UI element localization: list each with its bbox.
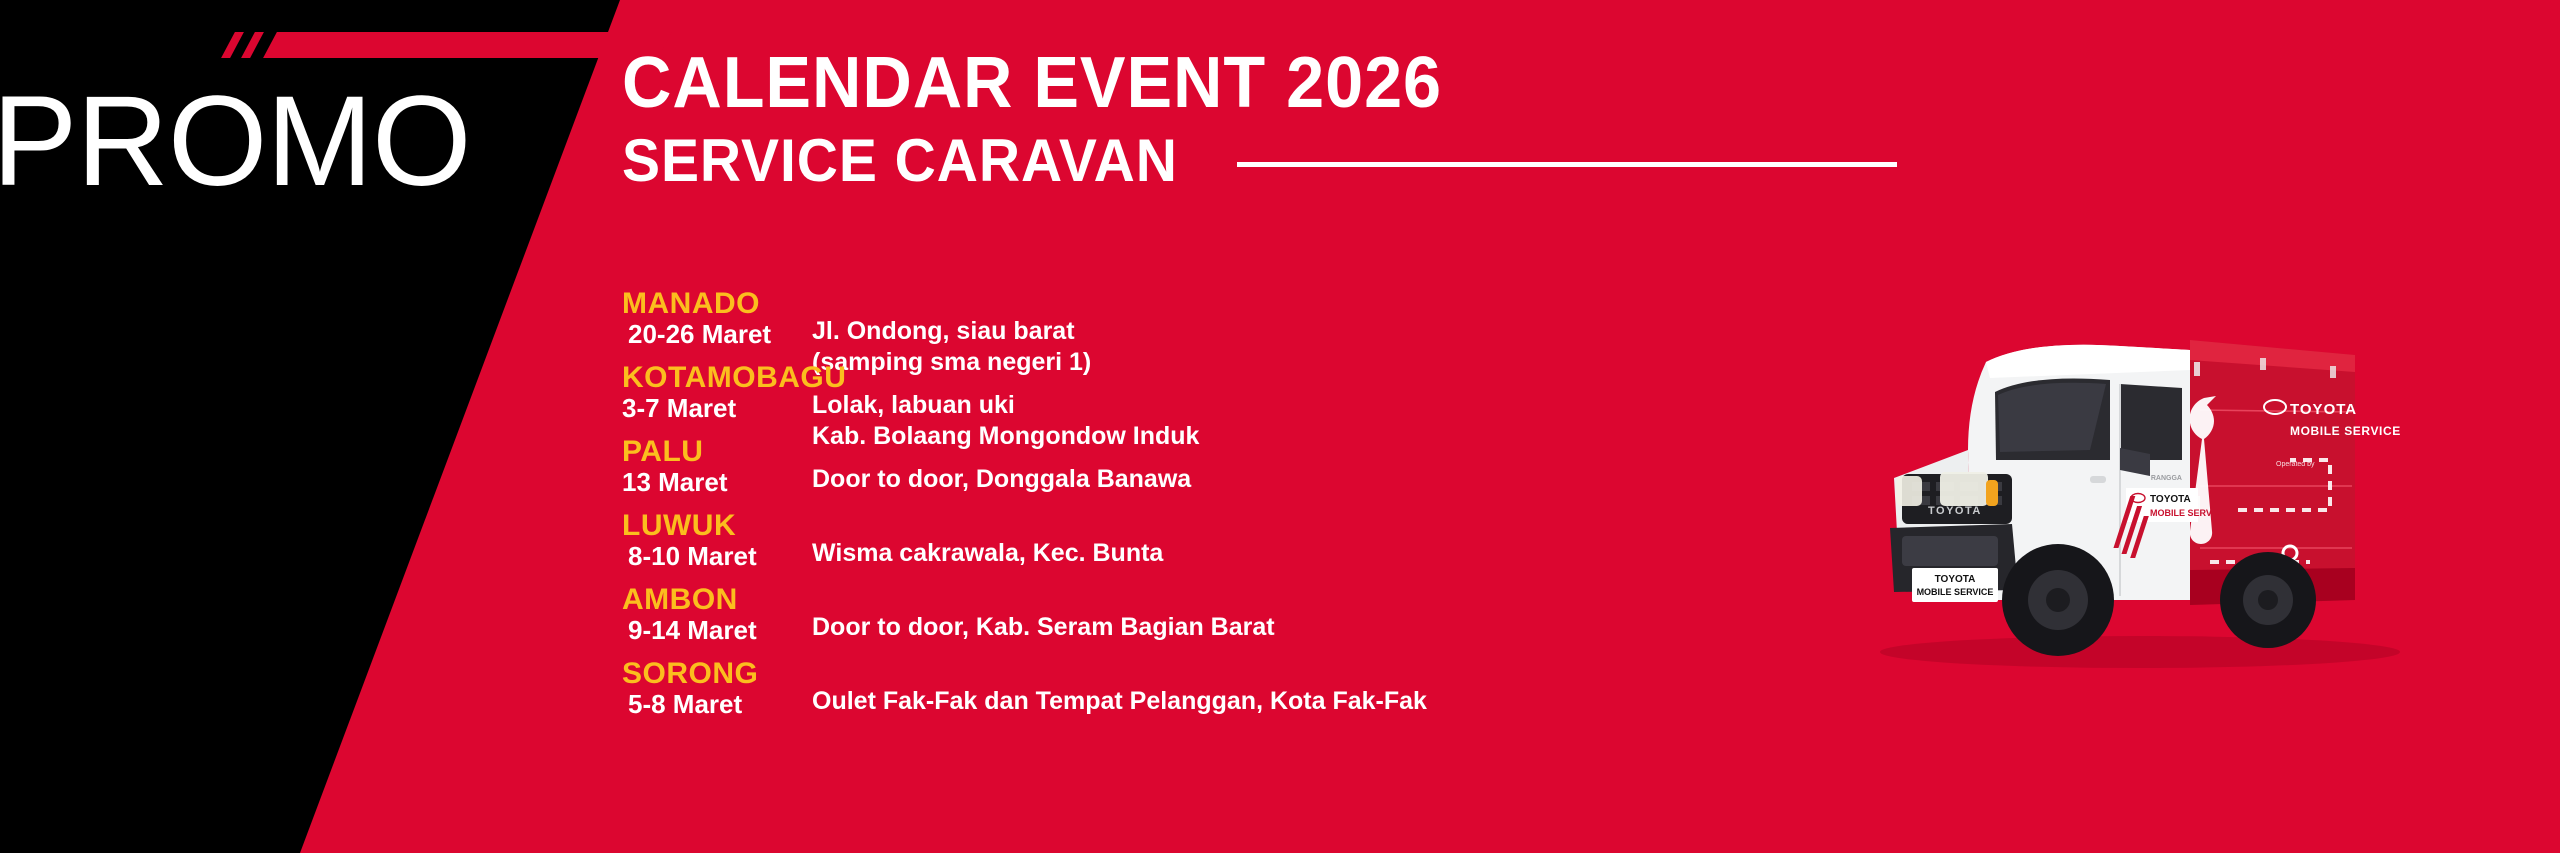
- event-venue-line1: Lolak, labuan uki: [812, 391, 1015, 419]
- decorative-stripes: [0, 32, 660, 72]
- operated-by-label: Operated by: [2276, 461, 2315, 468]
- svg-text:MOBILE SERVICE: MOBILE SERVICE: [2290, 424, 2401, 438]
- svg-text:TOYOTA: TOYOTA: [2150, 494, 2191, 505]
- truck-shadow: [1880, 636, 2400, 668]
- event-venue-line1: Jl. Ondong, siau barat: [812, 317, 1075, 345]
- grille-brand-text: TOYOTA: [1928, 505, 1982, 517]
- stripe-thin-1: [221, 32, 244, 58]
- truck-illustration: TOYOTA MOBILE SERVICE Operated by: [1790, 300, 2490, 700]
- plate-line-2: MOBILE SERVICE: [1917, 587, 1994, 597]
- event-venue-line1: Wisma cakrawala, Kec. Bunta: [812, 539, 1163, 567]
- stripe-thin-2: [241, 32, 264, 58]
- event-row: KOTAMOBAGU 3-7 Maret Lolak, labuan uki K…: [622, 362, 1922, 436]
- event-row: PALU 13 Maret Door to door, Donggala Ban…: [622, 436, 1922, 510]
- mobile-service-truck-image: TOYOTA MOBILE SERVICE Operated by: [1790, 300, 2490, 700]
- event-venue-line1: Door to door, Kab. Seram Bagian Barat: [812, 613, 1275, 641]
- turn-indicator: [1986, 480, 1998, 506]
- event-venue: Wisma cakrawala, Kec. Bunta: [812, 538, 1163, 569]
- plate-line-1: TOYOTA: [1935, 574, 1976, 585]
- event-venue: Oulet Fak-Fak dan Tempat Pelanggan, Kota…: [812, 686, 1427, 717]
- promo-banner: PROMO CALENDAR EVENT 2026 SERVICE CARAVA…: [0, 0, 2560, 853]
- event-row: SORONG 5-8 Maret Oulet Fak-Fak dan Tempa…: [622, 658, 1922, 732]
- subtitle-divider: [1237, 162, 1897, 167]
- event-row: MANADO 20-26 Maret Jl. Ondong, siau bara…: [622, 288, 1922, 362]
- event-row: LUWUK 8-10 Maret Wisma cakrawala, Kec. B…: [622, 510, 1922, 584]
- svg-text:TOYOTA: TOYOTA: [2290, 401, 2357, 418]
- door-handle: [2090, 476, 2106, 483]
- headlight-right: [1940, 472, 1988, 506]
- event-venue-line1: Door to door, Donggala Banawa: [812, 465, 1191, 493]
- event-venue: Door to door, Donggala Banawa: [812, 464, 1191, 495]
- event-venue-line1: Oulet Fak-Fak dan Tempat Pelanggan, Kota…: [812, 687, 1427, 715]
- license-plate: TOYOTA MOBILE SERVICE: [1912, 568, 1998, 602]
- stripe-thick: [263, 32, 672, 58]
- front-wheel: [2002, 544, 2114, 656]
- page-title: CALENDAR EVENT 2026: [622, 48, 1833, 119]
- headlight-left: [1896, 476, 1922, 506]
- event-row: AMBON 9-14 Maret Door to door, Kab. Sera…: [622, 584, 1922, 658]
- event-schedule-list: MANADO 20-26 Maret Jl. Ondong, siau bara…: [622, 288, 1922, 732]
- subtitle-row: SERVICE CARAVAN: [622, 131, 1897, 191]
- model-badge: RANGGA: [2151, 475, 2182, 482]
- page-subtitle: SERVICE CARAVAN: [622, 131, 1178, 191]
- headline-block: CALENDAR EVENT 2026 SERVICE CARAVAN: [622, 48, 1897, 191]
- svg-text:MOBILE SERVICE: MOBILE SERVICE: [2150, 508, 2227, 518]
- event-venue: Door to door, Kab. Seram Bagian Barat: [812, 612, 1275, 643]
- rear-wheel: [2220, 552, 2316, 648]
- promo-wordmark: PROMO: [0, 78, 471, 206]
